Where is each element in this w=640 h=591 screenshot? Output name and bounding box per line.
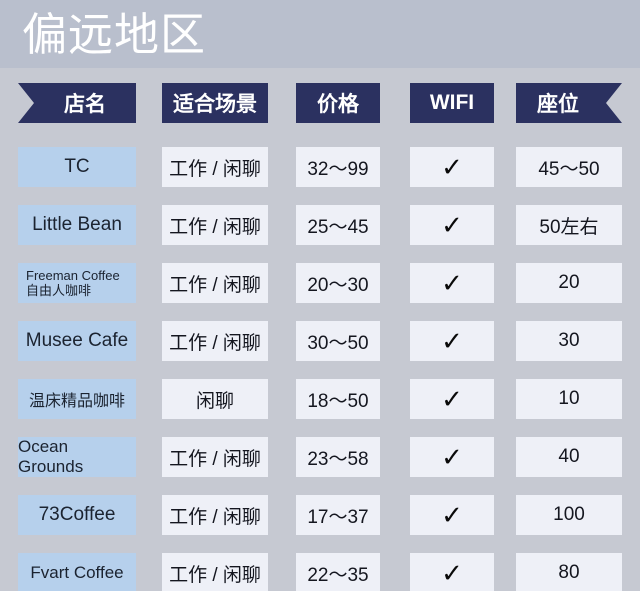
cell-wifi-check-icon: ✓	[410, 437, 494, 477]
table-row: Little Bean 工作 / 闲聊 25～45 ✓ 50左右	[0, 196, 640, 254]
cell-scene: 工作 / 闲聊	[162, 321, 268, 361]
cell-wifi-check-icon: ✓	[410, 553, 494, 591]
cell-wifi-check-icon: ✓	[410, 379, 494, 419]
cell-price: 22～35	[296, 553, 380, 591]
column-header-seats: 座位	[516, 83, 622, 123]
cell-store-name: TC	[18, 147, 136, 187]
cell-store-name: 温床精品咖啡	[18, 379, 136, 419]
cell-scene: 工作 / 闲聊	[162, 495, 268, 535]
cell-seats: 10	[516, 379, 622, 419]
table-row: Ocean Grounds 工作 / 闲聊 23～58 ✓ 40	[0, 428, 640, 486]
column-header-store-name: 店名	[18, 83, 136, 123]
cell-scene: 工作 / 闲聊	[162, 263, 268, 303]
table-row: Musee Cafe 工作 / 闲聊 30～50 ✓ 30	[0, 312, 640, 370]
cell-store-name-secondary: 自由人咖啡	[26, 283, 91, 298]
page-title: 偏远地区	[22, 7, 206, 63]
table-row: 温床精品咖啡 闲聊 18～50 ✓ 10	[0, 370, 640, 428]
table-row: TC 工作 / 闲聊 32～99 ✓ 45～50	[0, 138, 640, 196]
table-row: Fvart Coffee 工作 / 闲聊 22～35 ✓ 80	[0, 544, 640, 591]
cell-wifi-check-icon: ✓	[410, 147, 494, 187]
cell-seats: 30	[516, 321, 622, 361]
cell-price: 17～37	[296, 495, 380, 535]
cell-store-name: Freeman Coffee 自由人咖啡	[18, 263, 136, 303]
cell-price: 32～99	[296, 147, 380, 187]
cell-store-name: Musee Cafe	[18, 321, 136, 361]
cell-wifi-check-icon: ✓	[410, 205, 494, 245]
cell-price: 23～58	[296, 437, 380, 477]
cell-seats: 45～50	[516, 147, 622, 187]
cell-store-name: 73Coffee	[18, 495, 136, 535]
cell-wifi-check-icon: ✓	[410, 495, 494, 535]
cell-store-name: Ocean Grounds	[18, 437, 136, 477]
cell-scene: 工作 / 闲聊	[162, 147, 268, 187]
title-band: 偏远地区	[0, 0, 640, 68]
column-header-wifi: WIFI	[410, 83, 494, 123]
cell-price: 20～30	[296, 263, 380, 303]
column-header-scene-label: 适合场景	[173, 88, 257, 118]
cell-scene: 工作 / 闲聊	[162, 437, 268, 477]
cell-seats: 20	[516, 263, 622, 303]
cell-scene: 工作 / 闲聊	[162, 553, 268, 591]
table-row: 73Coffee 工作 / 闲聊 17～37 ✓ 100	[0, 486, 640, 544]
cell-seats: 50左右	[516, 205, 622, 245]
column-header-store-name-label: 店名	[48, 88, 106, 118]
cell-wifi-check-icon: ✓	[410, 321, 494, 361]
cell-scene: 工作 / 闲聊	[162, 205, 268, 245]
comparison-table: 店名 适合场景 价格 WIFI 座位 TC 工作 / 闲聊 32～99 ✓ 45…	[0, 68, 640, 591]
column-header-wifi-label: WIFI	[430, 91, 474, 115]
cell-seats: 80	[516, 553, 622, 591]
column-header-seats-label: 座位	[537, 88, 601, 118]
cell-store-name-primary: Freeman Coffee	[26, 268, 120, 283]
table-header-row: 店名 适合场景 价格 WIFI 座位	[0, 82, 640, 124]
column-header-price-label: 价格	[317, 88, 359, 118]
cell-seats: 100	[516, 495, 622, 535]
cell-seats: 40	[516, 437, 622, 477]
cafe-comparison-table-page: 偏远地区 店名 适合场景 价格 WIFI 座位 TC 工作 / 闲聊 32～99	[0, 0, 640, 591]
column-header-price: 价格	[296, 83, 380, 123]
cell-store-name: Little Bean	[18, 205, 136, 245]
cell-price: 18～50	[296, 379, 380, 419]
cell-scene: 闲聊	[162, 379, 268, 419]
cell-wifi-check-icon: ✓	[410, 263, 494, 303]
column-header-scene: 适合场景	[162, 83, 268, 123]
cell-price: 30～50	[296, 321, 380, 361]
cell-price: 25～45	[296, 205, 380, 245]
cell-store-name: Fvart Coffee	[18, 553, 136, 591]
table-row: Freeman Coffee 自由人咖啡 工作 / 闲聊 20～30 ✓ 20	[0, 254, 640, 312]
